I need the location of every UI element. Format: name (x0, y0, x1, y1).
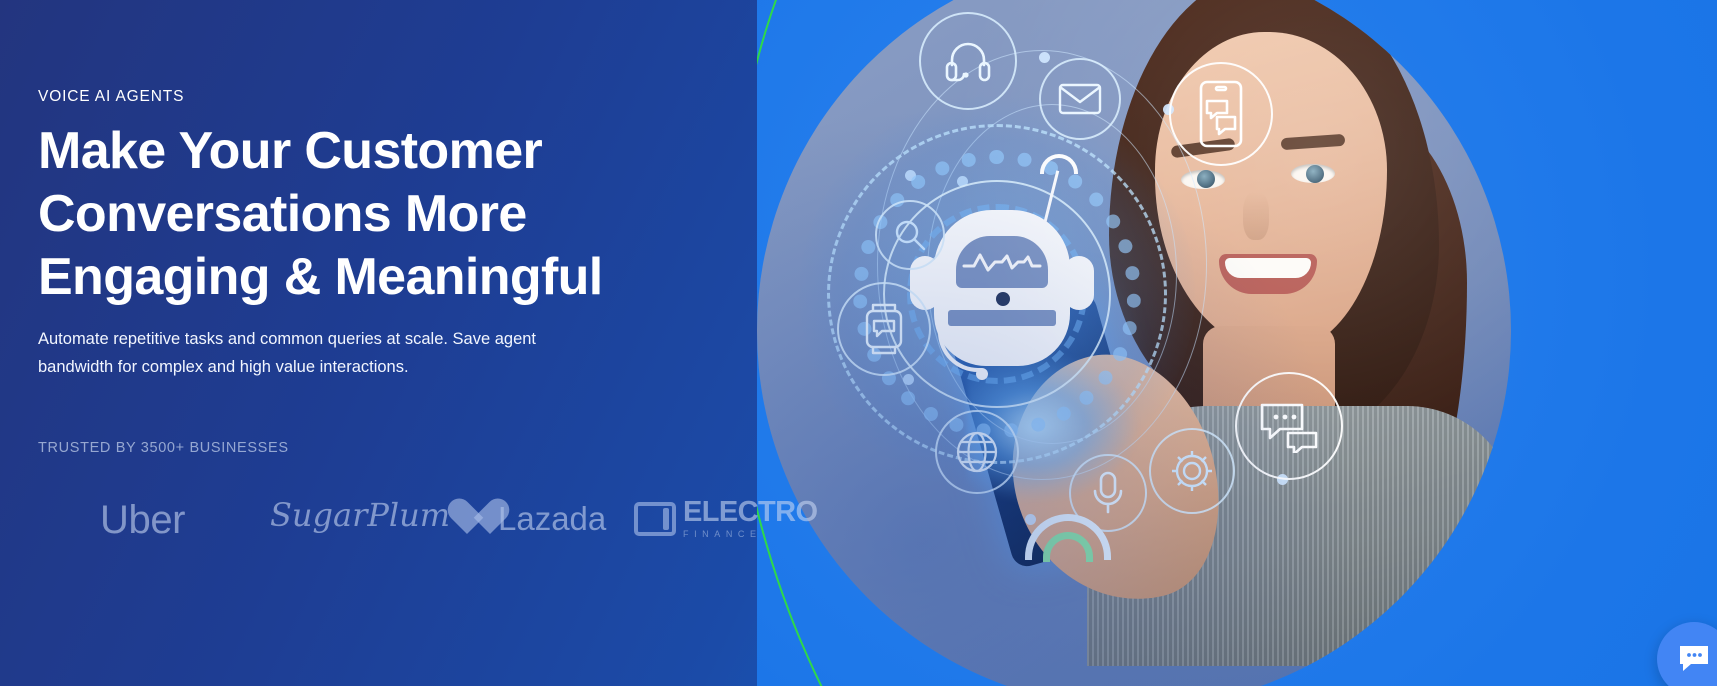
orbit-node (903, 374, 914, 385)
hud-ring-3 (883, 180, 1111, 408)
hero-content: VOICE AI AGENTS Make Your Customer Conve… (38, 0, 738, 686)
mouth (1219, 254, 1317, 294)
eye-right (1291, 164, 1335, 183)
hud-ring-1 (827, 124, 1167, 464)
hero-banner: VOICE AI AGENTS Make Your Customer Conve… (0, 0, 1717, 686)
hair-back (1167, 104, 1467, 574)
microphone-icon (1069, 454, 1147, 532)
logo-electro[interactable]: ELECTRO FINANCE (634, 498, 818, 539)
orbit-node (1039, 52, 1050, 63)
orbit-node (1163, 104, 1174, 115)
robot-mouth (948, 310, 1056, 326)
phone-glow (967, 352, 1137, 502)
hero-artwork (757, 0, 1717, 686)
sweater (1087, 406, 1511, 666)
hair (1109, 0, 1439, 442)
eye-left (1181, 170, 1225, 189)
chat-bubble-icon (1677, 643, 1711, 675)
trusted-label: TRUSTED BY 3500+ BUSINESSES (38, 440, 289, 456)
hud-ring-2 (853, 150, 1141, 438)
client-logo-row: Uber SugarPlum Lazada ELECTRO FINANCE (62, 492, 822, 558)
eyebrow-right (1281, 134, 1346, 150)
robot-ear-right (1064, 256, 1094, 310)
logo-electro-text: ELECTRO FINANCE (683, 498, 818, 539)
orbit-link-outer (877, 50, 1207, 480)
logo-sugarplum[interactable]: SugarPlum (270, 496, 450, 534)
gear-icon (1149, 428, 1235, 514)
heart-icon (446, 500, 490, 538)
iris-right (1306, 165, 1324, 183)
mobile-chat-icon (1169, 62, 1273, 166)
robot-antenna (1044, 170, 1059, 221)
hud-ring (827, 124, 1167, 464)
orbit-node (957, 176, 968, 187)
robot-eye (996, 292, 1010, 306)
orbit-node (905, 170, 916, 181)
orbit-link-inner (927, 104, 1177, 444)
hero-subcopy: Automate repetitive tasks and common que… (38, 325, 598, 381)
hand (988, 334, 1243, 625)
logo-sugarplum-text: SugarPlum (270, 496, 450, 534)
face (1155, 32, 1387, 352)
photo-circle (757, 0, 1511, 686)
robot-screen (956, 236, 1048, 288)
chat-bubbles-icon (1235, 372, 1343, 480)
logo-uber-text: Uber (100, 498, 185, 543)
eyebrow-left (1170, 138, 1235, 159)
robot-headset-mic (976, 368, 988, 380)
logo-electro-main: ELECTRO (683, 498, 818, 527)
hud-glow (799, 96, 1195, 492)
hud-ring-4 (907, 204, 1087, 384)
robot-ear-left (910, 256, 940, 310)
smartwatch-chat-icon (837, 282, 931, 376)
neck (1203, 326, 1335, 446)
eyebrow-label: VOICE AI AGENTS (38, 88, 184, 106)
headset-icon (919, 12, 1017, 110)
orbit-node (1277, 474, 1288, 485)
globe-icon (935, 410, 1019, 494)
wifi-icon (1025, 514, 1111, 560)
nose (1243, 192, 1269, 240)
teeth (1225, 258, 1311, 278)
page-title: Make Your Customer Conversations More En… (38, 120, 678, 309)
chatbot-robot-icon (912, 184, 1092, 384)
wifi-icon-inner (1043, 532, 1093, 562)
search-icon (875, 200, 945, 270)
logo-electro-sub: FINANCE (683, 530, 818, 539)
logo-uber[interactable]: Uber (100, 498, 185, 543)
orbit-node (1025, 514, 1036, 525)
robot-head (934, 210, 1070, 366)
smartphone (948, 290, 1161, 570)
woman-photo (757, 0, 1511, 686)
monitor-icon (634, 502, 676, 536)
logo-lazada-text: Lazada (498, 500, 606, 538)
mail-icon (1039, 58, 1121, 140)
iris-left (1197, 170, 1215, 188)
robot-headset-boom (938, 312, 982, 372)
robot-antenna-arc (1040, 154, 1078, 174)
logo-lazada[interactable]: Lazada (446, 500, 606, 538)
